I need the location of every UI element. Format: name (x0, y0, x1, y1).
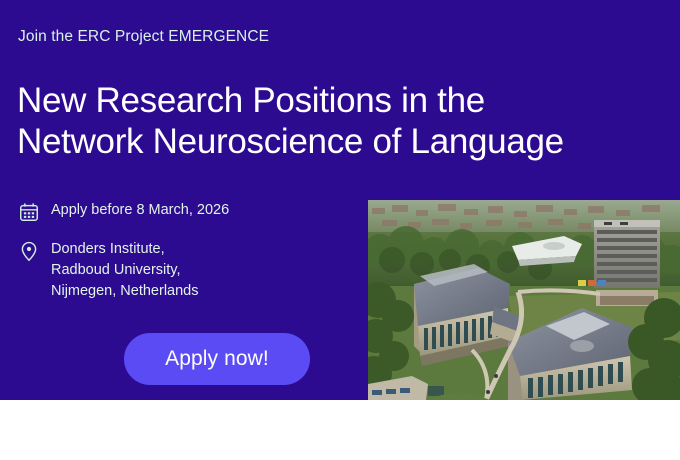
details-list: Apply before 8 March, 2026 Donders Insti… (18, 200, 348, 318)
location-pin-icon (18, 240, 40, 262)
campus-photo (368, 200, 680, 400)
location-row: Donders Institute, Radboud University, N… (18, 239, 348, 302)
location-text: Donders Institute, Radboud University, N… (51, 239, 199, 302)
job-advert-banner: Join the ERC Project EMERGENCE New Resea… (0, 0, 680, 460)
eyebrow-text: Join the ERC Project EMERGENCE (18, 28, 269, 46)
calendar-icon (18, 201, 40, 223)
apply-now-button[interactable]: Apply now! (124, 333, 310, 385)
deadline-text: Apply before 8 March, 2026 (51, 200, 229, 221)
footer-logo-bar: NeurotechEUThe European University of Br… (0, 400, 680, 460)
deadline-row: Apply before 8 March, 2026 (18, 200, 348, 223)
banner-main-panel: Join the ERC Project EMERGENCE New Resea… (0, 0, 680, 400)
page-title: New Research Positions in the Network Ne… (17, 81, 617, 163)
